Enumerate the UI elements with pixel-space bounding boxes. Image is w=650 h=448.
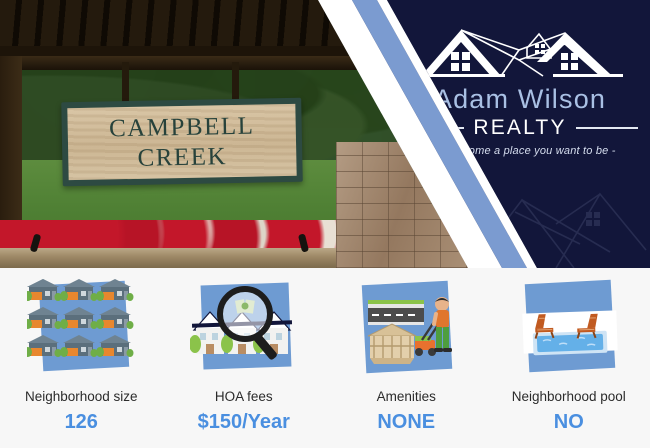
stat-value: NO [554, 412, 584, 432]
house-rooflines-icon [415, 20, 625, 84]
sign-text-line-2: CREEK [137, 144, 227, 171]
houses-grid-icon [27, 278, 135, 378]
gazebo-lawnmower-icon [352, 278, 460, 378]
stats-row: Neighborhood size 126 [0, 268, 650, 448]
community-entrance-sign: CAMPBELL CREEK [61, 98, 303, 187]
stat-amenities: Amenities NONE [325, 268, 488, 448]
stat-label: HOA fees [215, 390, 273, 404]
stat-label: Neighborhood pool [512, 390, 626, 404]
listing-info-card: CAMPBELL CREEK [0, 0, 650, 448]
stat-hoa-fees: HOA fees $150/Year [163, 268, 326, 448]
brand-rule-right [576, 127, 638, 129]
sign-face: CAMPBELL CREEK [67, 104, 296, 180]
stat-label: Amenities [377, 390, 436, 404]
stat-value: $150/Year [198, 412, 290, 432]
stat-neighborhood-pool: Neighborhood pool NO [488, 268, 650, 448]
hero-banner: CAMPBELL CREEK [0, 0, 650, 268]
sign-text-line-1: CAMPBELL [109, 113, 255, 141]
magnifier-over-houses-icon [190, 278, 298, 378]
stat-label: Neighborhood size [25, 390, 138, 404]
pool-loungers-icon [515, 278, 623, 378]
brand-subtitle: REALTY [473, 117, 566, 138]
stat-neighborhood-size: Neighborhood size 126 [0, 268, 163, 448]
stat-value: NONE [377, 412, 435, 432]
stat-value: 126 [65, 412, 98, 432]
